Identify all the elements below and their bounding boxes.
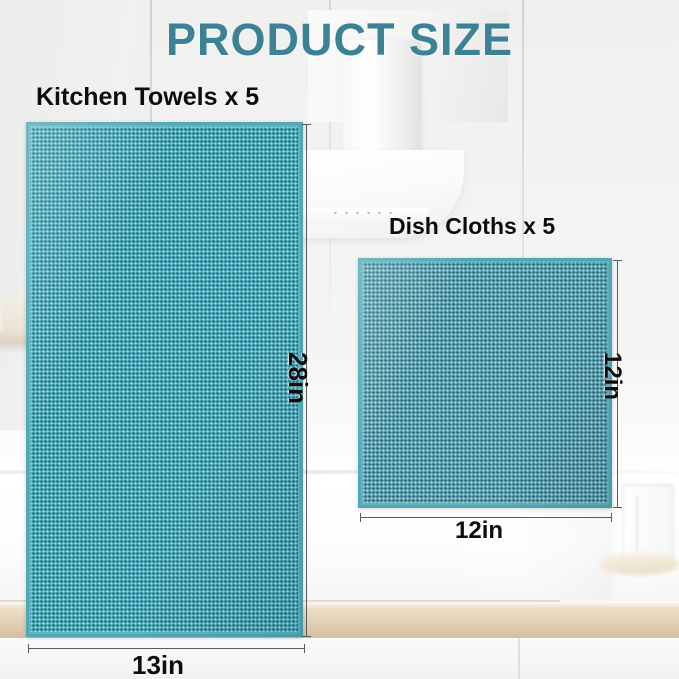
towel-height-dimension-cap-bottom xyxy=(302,636,311,637)
range-hood-vent-dots xyxy=(330,211,396,215)
towel-width-value: 13in xyxy=(132,650,184,679)
towel-width-dimension-cap-right xyxy=(304,644,305,653)
page-title: PRODUCT SIZE xyxy=(0,14,679,66)
towel-waffle-weave-texture xyxy=(31,127,298,632)
product-size-infographic: PRODUCT SIZE Kitchen Towels x 5 28in 13i… xyxy=(0,0,679,679)
cloth-waffle-weave-texture xyxy=(363,263,607,503)
base-cabinet xyxy=(0,638,679,679)
base-cabinet-seam xyxy=(518,638,520,679)
dish-cloths-label: Dish Cloths x 5 xyxy=(389,213,555,240)
cloth-width-value: 12in xyxy=(455,517,503,545)
kitchen-towel-swatch xyxy=(26,122,303,637)
cloth-height-value: 12in xyxy=(598,352,626,400)
towel-height-dimension-cap-top xyxy=(302,124,311,125)
kitchen-towels-label: Kitchen Towels x 5 xyxy=(36,83,259,112)
towel-width-dimension-cap-left xyxy=(28,644,29,653)
cloth-width-dimension-cap-left xyxy=(360,513,361,522)
cloth-height-dimension-cap-top xyxy=(613,260,622,261)
cloth-width-dimension-cap-right xyxy=(611,513,612,522)
dish-cloth-swatch xyxy=(358,258,612,508)
cloth-height-dimension-cap-bottom xyxy=(613,507,622,508)
towel-height-value: 28in xyxy=(282,352,313,404)
towel-width-dimension-line xyxy=(28,648,305,649)
